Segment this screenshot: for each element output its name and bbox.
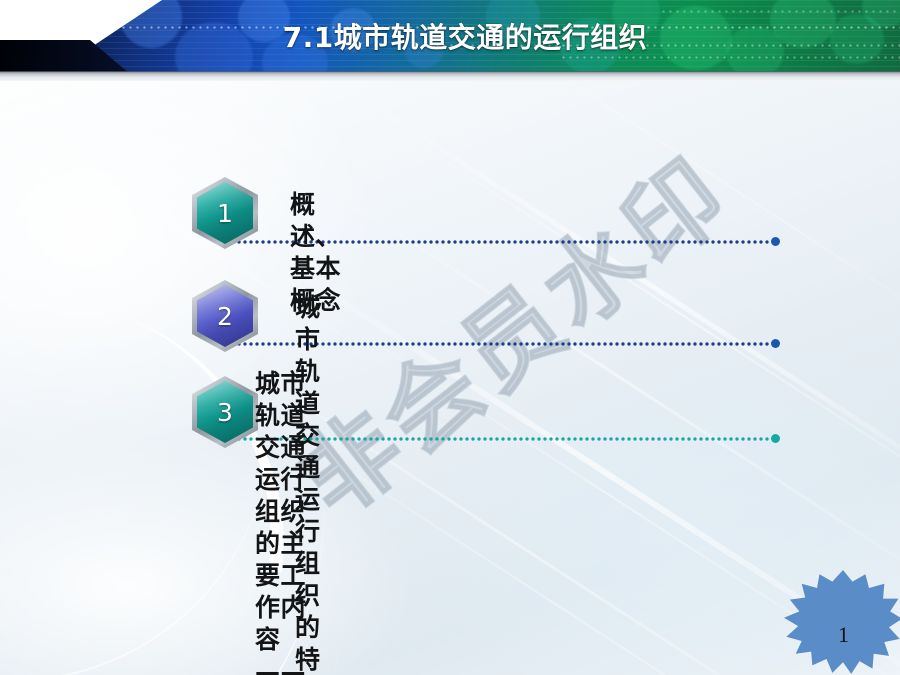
hexagon-number-1: 1 [192, 177, 258, 249]
page-number: 1 [838, 624, 849, 646]
slide-header: 7.1城市轨道交通的运行组织 [0, 0, 900, 72]
connector-endpoint-2 [771, 339, 780, 348]
connector-endpoint-3 [771, 434, 780, 443]
hexagon-badge-3[interactable]: 3 [192, 376, 258, 448]
hexagon-number-3: 3 [192, 376, 258, 448]
page-title: 7.1城市轨道交通的运行组织 [0, 0, 900, 72]
hexagon-number-2: 2 [192, 280, 258, 352]
agenda-label-3: 城市轨道交通运行组织的主要工作内容 ——列车运行图 [255, 368, 306, 675]
slide-canvas: 非会员水印 7.1城市轨道交通的运行组织 [0, 0, 900, 675]
hexagon-badge-1[interactable]: 1 [192, 177, 258, 249]
hexagon-badge-2[interactable]: 2 [192, 280, 258, 352]
slide-background [0, 72, 900, 675]
connector-endpoint-1 [771, 237, 780, 246]
header-separator-bar [0, 72, 900, 81]
connector-line-3 [236, 437, 778, 441]
